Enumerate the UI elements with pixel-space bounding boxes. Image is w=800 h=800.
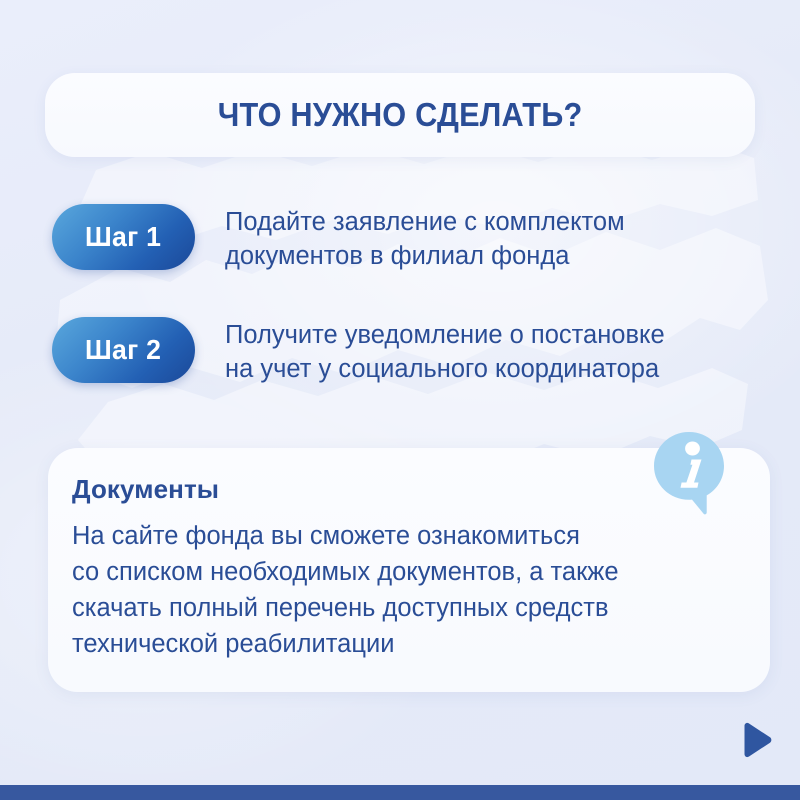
play-arrow-shape (745, 723, 772, 757)
step-line: на учет у социального координатора (225, 352, 665, 386)
step-line: Получите уведомление о постановке (225, 318, 665, 352)
infographic-slide: ЧТО НУЖНО СДЕЛАТЬ? Шаг 1 Подайте заявлен… (0, 0, 800, 800)
info-bubble-icon (648, 428, 730, 518)
step-row-2: Шаг 2 Получите уведомление о постановке … (52, 315, 752, 386)
step-badge-label-2: Шаг 2 (85, 334, 161, 366)
documents-heading: Документы (72, 474, 219, 505)
step-line: Подайте заявление с комплектом (225, 205, 625, 239)
documents-body: На сайте фонда вы сможете ознакомиться с… (72, 518, 619, 662)
step-line: документов в филиал фонда (225, 239, 625, 273)
documents-line: со списком необходимых документов, а так… (72, 554, 619, 590)
documents-line: скачать полный перечень доступных средст… (72, 590, 619, 626)
step-description-2: Получите уведомление о постановке на уче… (225, 315, 665, 386)
documents-line: На сайте фонда вы сможете ознакомиться (72, 518, 619, 554)
step-row-1: Шаг 1 Подайте заявление с комплектом док… (52, 202, 752, 273)
documents-line: технической реабилитации (72, 626, 619, 662)
step-description-1: Подайте заявление с комплектом документо… (225, 202, 625, 273)
step-badge-1[interactable]: Шаг 1 (52, 204, 195, 270)
bottom-accent-bar (0, 785, 800, 800)
play-arrow-icon[interactable] (740, 722, 774, 758)
page-title: ЧТО НУЖНО СДЕЛАТЬ? (218, 96, 583, 134)
title-card: ЧТО НУЖНО СДЕЛАТЬ? (45, 73, 755, 157)
step-badge-2[interactable]: Шаг 2 (52, 317, 195, 383)
step-badge-label-1: Шаг 1 (85, 221, 161, 253)
